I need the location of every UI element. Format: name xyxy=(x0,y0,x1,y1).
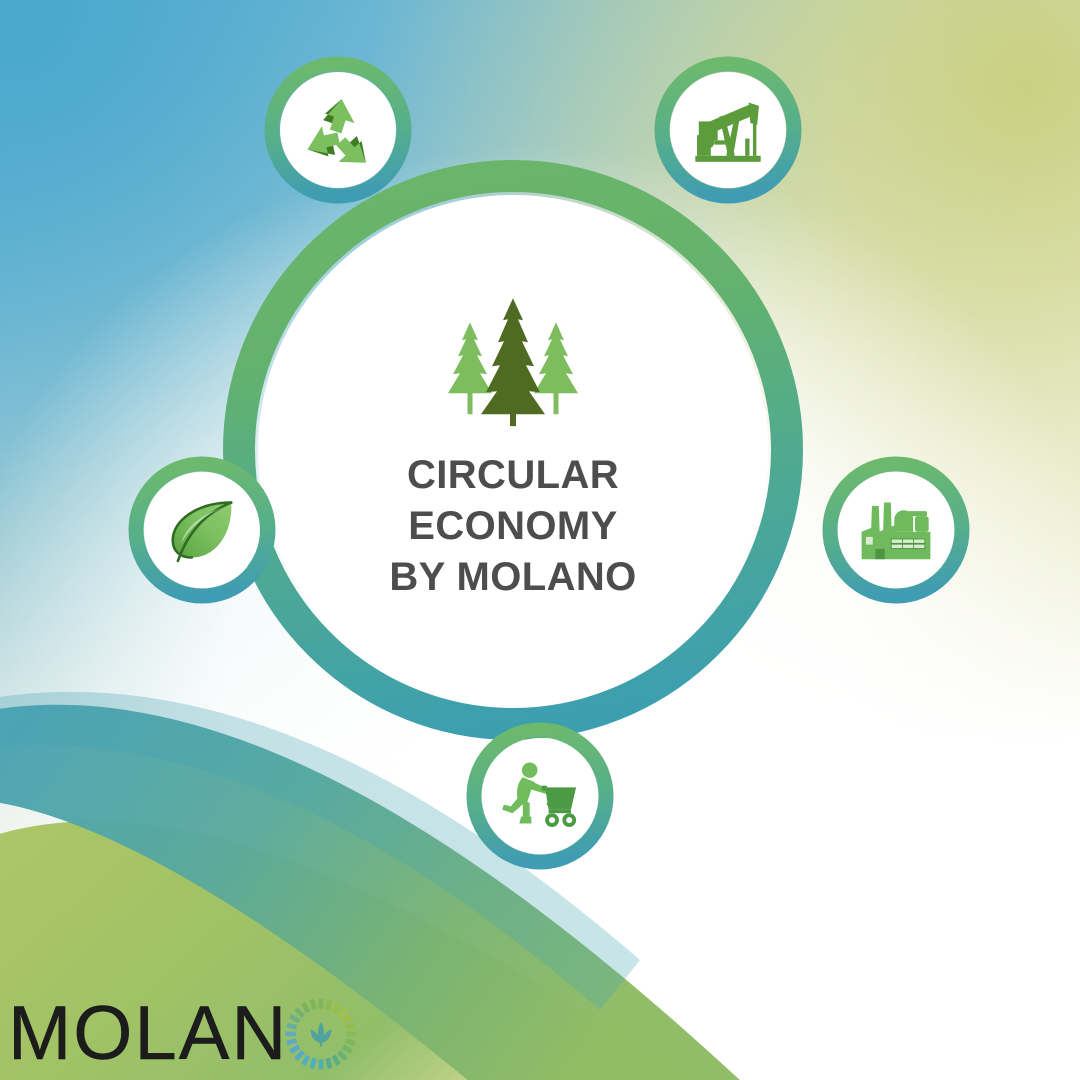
shopper-with-cart-icon xyxy=(497,753,583,839)
recycle-arrows-icon xyxy=(295,87,381,173)
poster-canvas: CIRCULAR ECONOMY BY MOLANO xyxy=(0,0,1080,1080)
node-shopper[interactable] xyxy=(466,722,614,870)
pine-trees-svg xyxy=(429,296,597,426)
tree-left xyxy=(448,322,492,414)
molano-leaf-ring-icon xyxy=(284,997,358,1071)
node-oil[interactable] xyxy=(654,56,802,204)
pine-trees-icon xyxy=(429,296,597,426)
shopper-with-cart-svg xyxy=(497,753,583,839)
tree-center xyxy=(481,298,545,426)
oil-pumpjack-icon xyxy=(685,87,771,173)
brand-wordmark: MOLAN xyxy=(8,996,288,1072)
leaf-svg xyxy=(159,487,245,573)
recycle-arrows-svg xyxy=(295,87,381,173)
factory-svg xyxy=(853,487,939,573)
oil-pumpjack-svg xyxy=(685,87,771,173)
node-factory[interactable] xyxy=(822,456,970,604)
node-leaf[interactable] xyxy=(128,456,276,604)
tree-right xyxy=(534,322,578,414)
brand-leaf-motif xyxy=(311,1022,332,1046)
hub-content: CIRCULAR ECONOMY BY MOLANO xyxy=(298,296,728,604)
page-title: CIRCULAR ECONOMY BY MOLANO xyxy=(298,450,728,604)
leaf-icon xyxy=(159,487,245,573)
node-recycle[interactable] xyxy=(264,56,412,204)
central-hub: CIRCULAR ECONOMY BY MOLANO xyxy=(223,160,803,740)
factory-icon xyxy=(853,487,939,573)
brand-logo: MOLAN xyxy=(8,995,358,1073)
